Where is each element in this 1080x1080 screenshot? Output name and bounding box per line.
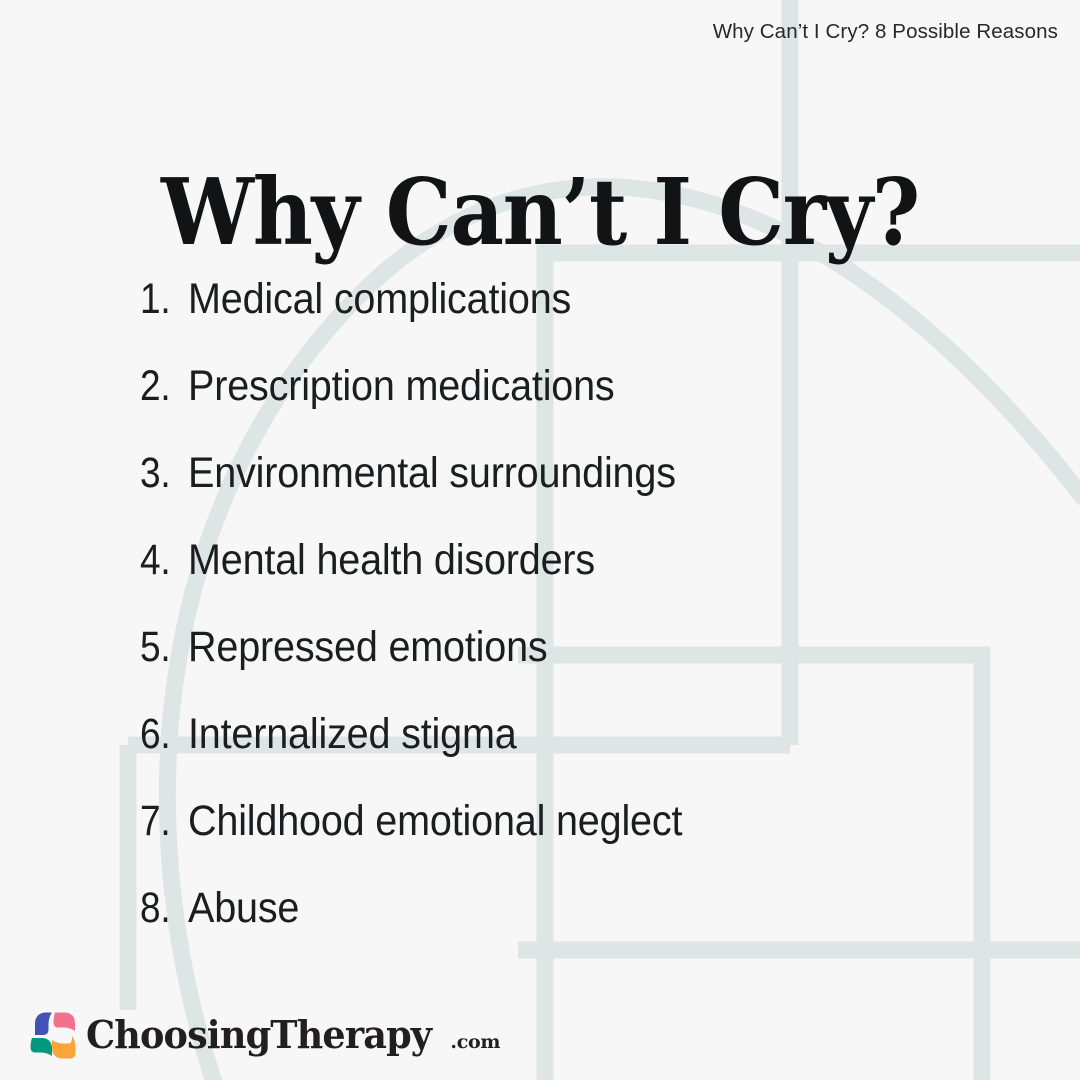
logo-petal-bottom-right: [52, 1036, 76, 1059]
list-item-label: Environmental surroundings: [188, 452, 676, 495]
list-item: 7. Childhood emotional neglect: [140, 800, 1040, 887]
list-item-number: 8.: [140, 887, 181, 930]
list-item: 5. Repressed emotions: [140, 626, 1040, 713]
choosingtherapy-logo-icon: [30, 1011, 77, 1060]
logo-petal-bottom-left: [31, 1038, 53, 1056]
brand-logo: ChoosingTherapy .com: [30, 1011, 500, 1060]
article-title-eyebrow: Why Can’t I Cry? 8 Possible Reasons: [713, 20, 1058, 45]
list-item: 8. Abuse: [140, 887, 1040, 974]
list-item: 6. Internalized stigma: [140, 713, 1040, 800]
list-item-number: 4.: [140, 539, 181, 582]
list-item-label: Prescription medications: [188, 365, 615, 408]
list-item-label: Childhood emotional neglect: [188, 800, 682, 843]
list-item-number: 7.: [140, 800, 181, 843]
list-item-label: Abuse: [188, 887, 299, 930]
logo-petal-top-right: [54, 1013, 76, 1032]
list-item-number: 1.: [140, 278, 181, 321]
infographic-canvas: Why Can’t I Cry? 8 Possible Reasons Why …: [0, 0, 1080, 1080]
list-item-number: 3.: [140, 452, 181, 495]
list-item-label: Medical complications: [188, 278, 571, 321]
brand-wordmark: ChoosingTherapy .com: [86, 1013, 500, 1058]
page-title: Why Can’t I Cry?: [54, 166, 1026, 258]
brand-name: ChoosingTherapy: [86, 1013, 431, 1058]
list-item-number: 2.: [140, 365, 181, 408]
brand-tld: .com: [450, 1031, 500, 1053]
list-item: 1. Medical complications: [140, 278, 1040, 365]
list-item-number: 5.: [140, 626, 181, 669]
logo-petal-top-left: [35, 1013, 52, 1036]
list-item: 4. Mental health disorders: [140, 539, 1040, 626]
reasons-list: 1. Medical complications 2. Prescription…: [140, 278, 1040, 974]
list-item: 2. Prescription medications: [140, 365, 1040, 452]
list-item-label: Internalized stigma: [188, 713, 517, 756]
list-item-number: 6.: [140, 713, 181, 756]
list-item: 3. Environmental surroundings: [140, 452, 1040, 539]
list-item-label: Repressed emotions: [188, 626, 548, 669]
list-item-label: Mental health disorders: [188, 539, 595, 582]
